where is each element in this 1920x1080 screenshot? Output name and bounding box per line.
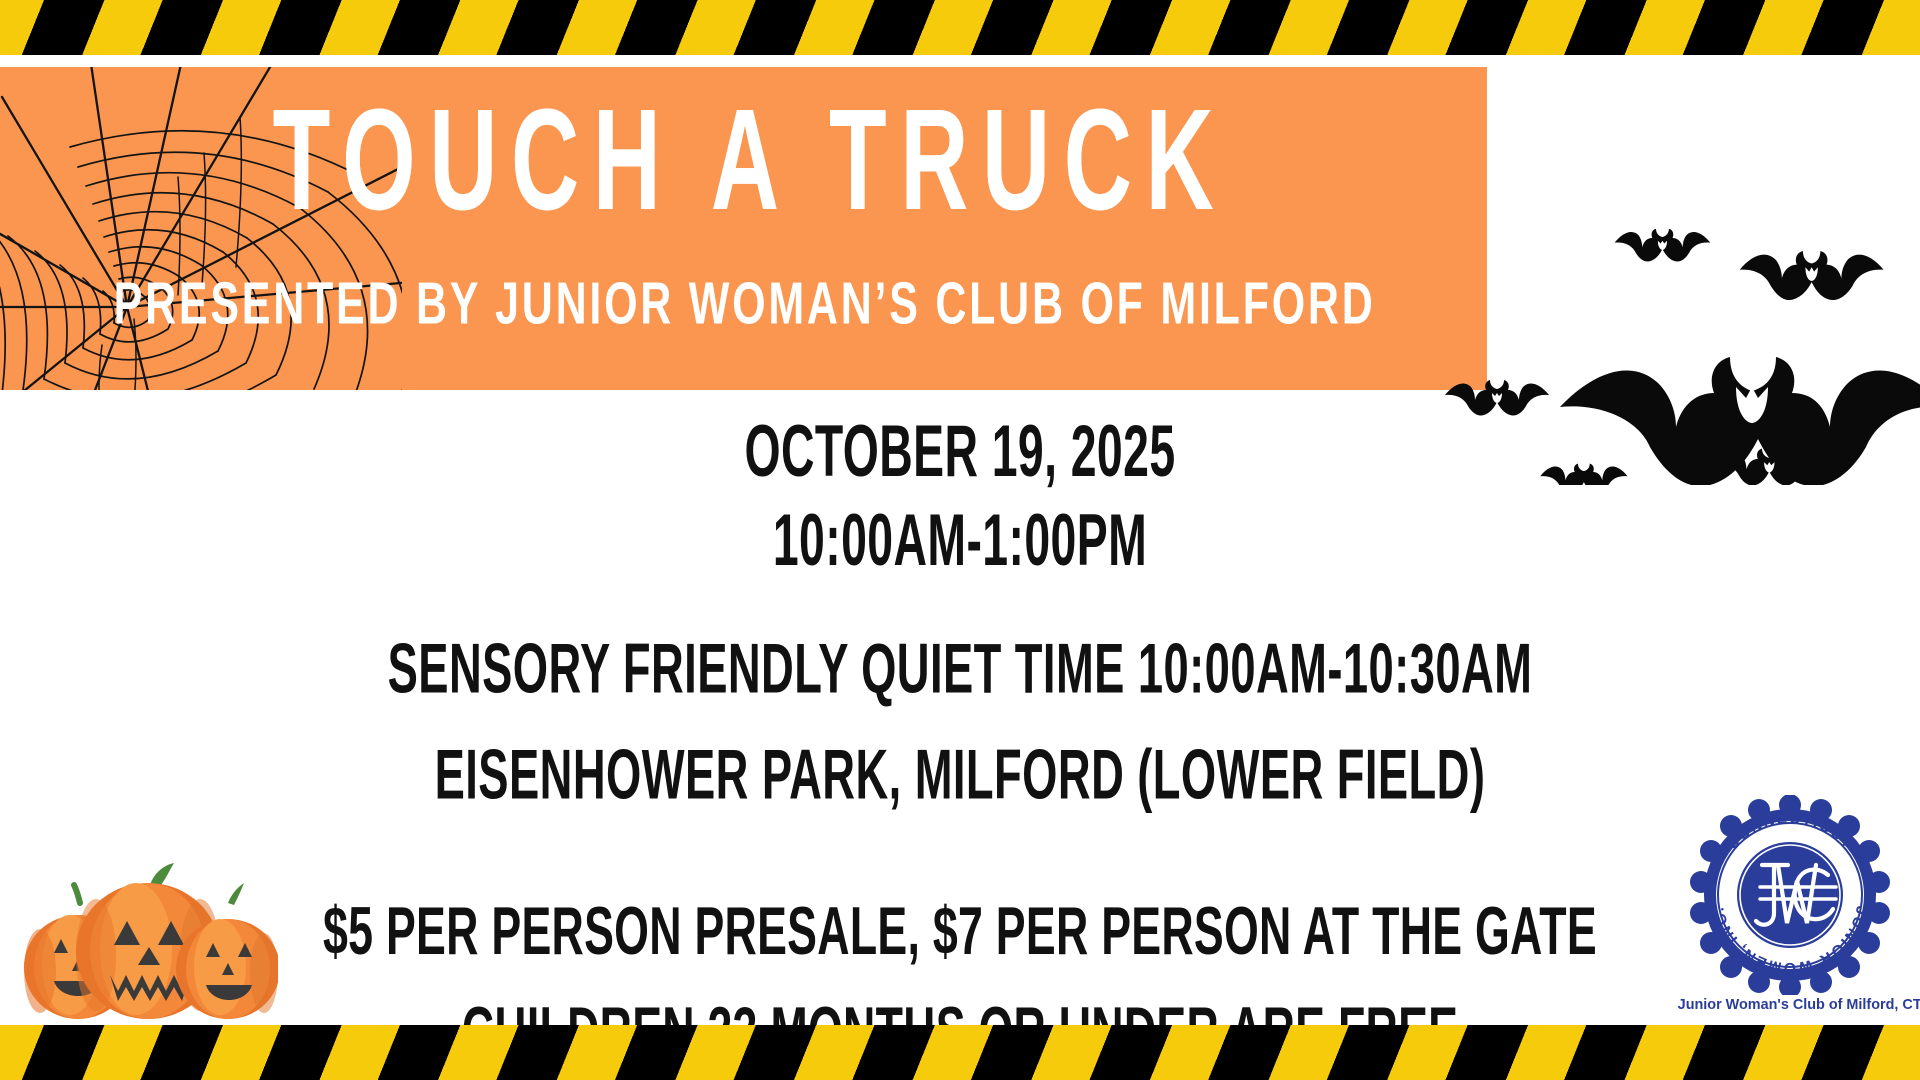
jwc-seal-icon: · CONNECTICUT · JUNIOR WOMEN, INC. <box>1690 795 1890 995</box>
flyer-canvas: TOUCH A TRUCK PRESENTED BY JUNIOR WOMAN’… <box>0 0 1920 1080</box>
caution-stripe-bottom <box>0 1025 1920 1080</box>
page-subtitle: PRESENTED BY JUNIOR WOMAN’S CLUB OF MILF… <box>111 269 1376 337</box>
jwc-logo: · CONNECTICUT · JUNIOR WOMEN, INC. Junio… <box>1673 795 1907 1025</box>
jwc-logo-caption: Junior Woman's Club of Milford, CT <box>1678 996 1903 1013</box>
page-title: TOUCH A TRUCK <box>259 87 1227 234</box>
event-venue: EISENHOWER PARK, MILFORD (LOWER FIELD) <box>154 740 1767 810</box>
title-block: TOUCH A TRUCK PRESENTED BY JUNIOR WOMAN’… <box>0 67 1487 390</box>
event-details: OCTOBER 19, 2025 10:00AM-1:00PM SENSORY … <box>0 395 1920 1058</box>
sensory-friendly-note: SENSORY FRIENDLY QUIET TIME 10:00AM-10:3… <box>154 634 1767 704</box>
event-date: OCTOBER 19, 2025 <box>192 415 1728 488</box>
bat-icon <box>1615 229 1711 262</box>
caution-stripe-top <box>0 0 1920 55</box>
ticket-price: $5 PER PERSON PRESALE, $7 PER PERSON AT … <box>134 898 1785 966</box>
event-time: 10:00AM-1:00PM <box>192 504 1728 577</box>
bat-icon <box>1740 251 1884 300</box>
